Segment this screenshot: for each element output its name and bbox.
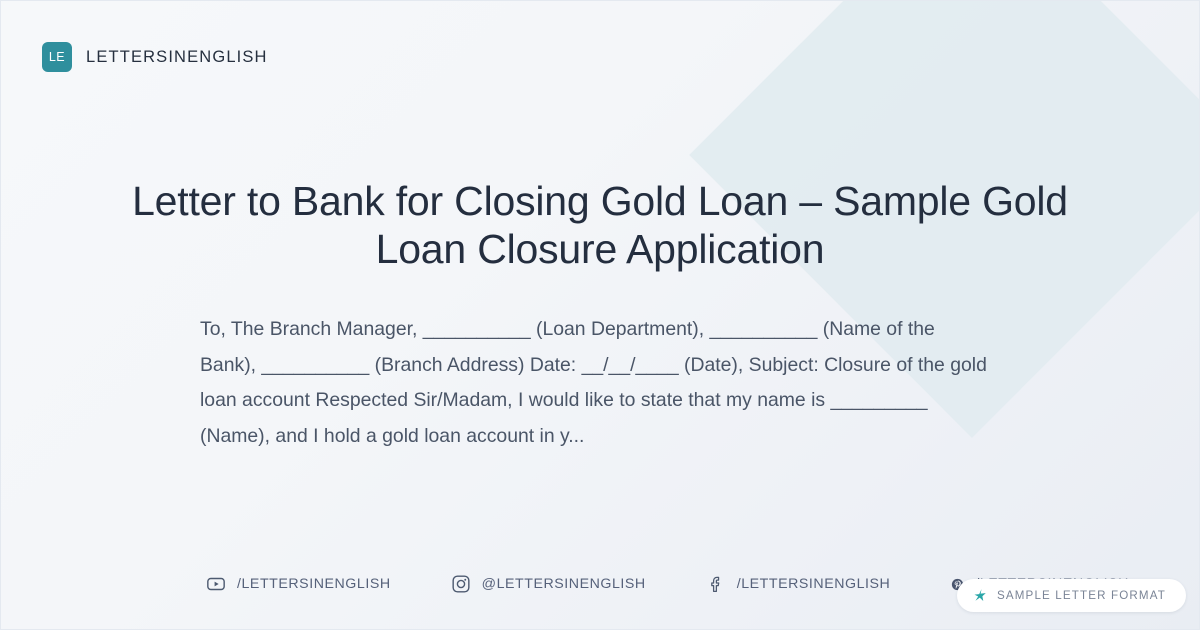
social-link-youtube[interactable]: /LETTERSINENGLISH <box>206 574 391 594</box>
social-link-facebook[interactable]: /LETTERSINENGLISH <box>706 574 891 594</box>
social-link-instagram[interactable]: @LETTERSINENGLISH <box>451 574 646 594</box>
brand-mark-icon: LE <box>42 42 72 72</box>
social-share-card: LE LETTERSINENGLISH Letter to Bank for C… <box>0 0 1200 630</box>
social-handle-instagram: @LETTERSINENGLISH <box>482 576 646 592</box>
brand-name: LETTERSINENGLISH <box>86 48 268 67</box>
lightning-bolt-icon <box>973 588 988 603</box>
youtube-icon <box>206 574 226 594</box>
brand-logo[interactable]: LE LETTERSINENGLISH <box>42 42 268 72</box>
status-badge[interactable]: SAMPLE LETTER FORMAT <box>957 579 1186 612</box>
badge-label: SAMPLE LETTER FORMAT <box>997 589 1166 602</box>
facebook-icon <box>706 574 726 594</box>
social-handle-facebook: /LETTERSINENGLISH <box>737 576 891 592</box>
article-excerpt: To, The Branch Manager, __________ (Loan… <box>200 312 995 454</box>
social-handle-youtube: /LETTERSINENGLISH <box>237 576 391 592</box>
instagram-icon <box>451 574 471 594</box>
page-title: Letter to Bank for Closing Gold Loan – S… <box>100 178 1100 274</box>
